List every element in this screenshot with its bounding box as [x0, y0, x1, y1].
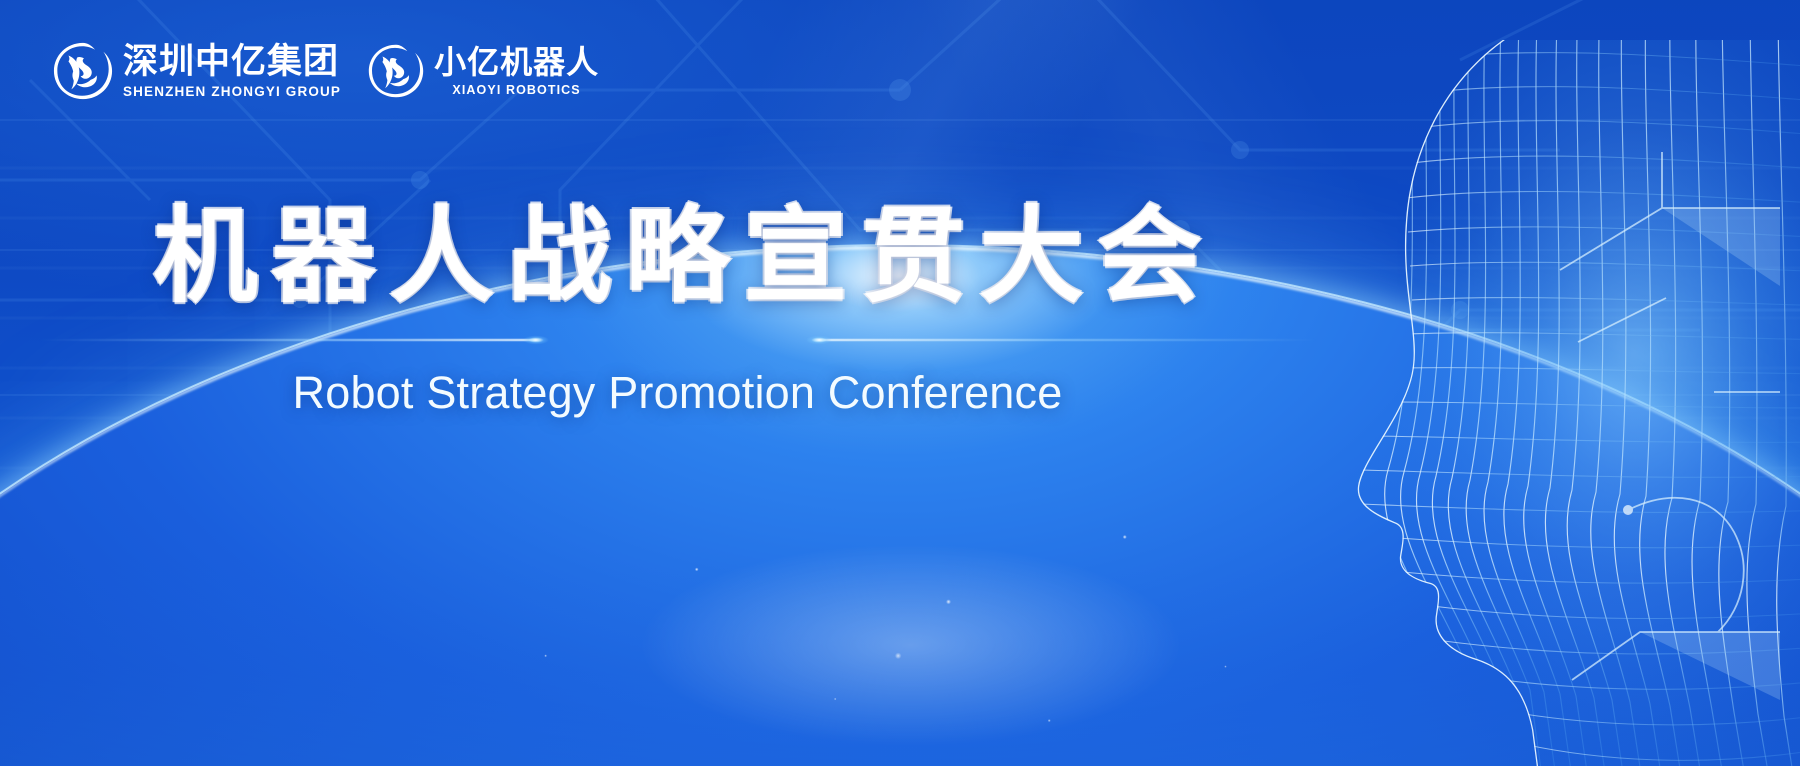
- title-divider: [0, 335, 1355, 345]
- conference-banner: 深圳中亿集团 SHENZHEN ZHONGYI GROUP 小亿机器人 XIAO…: [0, 0, 1800, 766]
- zhongyi-circular-emblem-icon: [52, 40, 114, 102]
- logo-name-cn: 深圳中亿集团: [123, 44, 341, 79]
- headline-block: 机器人战略宣贯大会 Robot Strategy Promotion Confe…: [0, 196, 1355, 419]
- glow-dot-left-icon: [523, 335, 549, 344]
- logo-name-en: XIAOYI ROBOTICS: [434, 84, 599, 97]
- logo-name-cn: 小亿机器人: [434, 46, 599, 78]
- glow-line-left-icon: [38, 339, 536, 341]
- logo-xiaoyi-robotics[interactable]: 小亿机器人 XIAOYI ROBOTICS: [367, 42, 599, 100]
- logo-text-group: 深圳中亿集团 SHENZHEN ZHONGYI GROUP: [123, 44, 341, 99]
- glow-dot-right-icon: [806, 335, 832, 344]
- page-title: 机器人战略宣贯大会: [0, 196, 1355, 317]
- logo-text-group: 小亿机器人 XIAOYI ROBOTICS: [434, 46, 599, 97]
- glow-line-right-icon: [819, 339, 1317, 341]
- xiaoyi-circular-emblem-icon: [367, 42, 425, 100]
- logo-shenzhen-zhongyi-group[interactable]: 深圳中亿集团 SHENZHEN ZHONGYI GROUP: [52, 40, 341, 102]
- page-subtitle: Robot Strategy Promotion Conference: [0, 367, 1355, 419]
- logo-name-en: SHENZHEN ZHONGYI GROUP: [123, 85, 341, 99]
- logo-row: 深圳中亿集团 SHENZHEN ZHONGYI GROUP 小亿机器人 XIAO…: [52, 40, 599, 102]
